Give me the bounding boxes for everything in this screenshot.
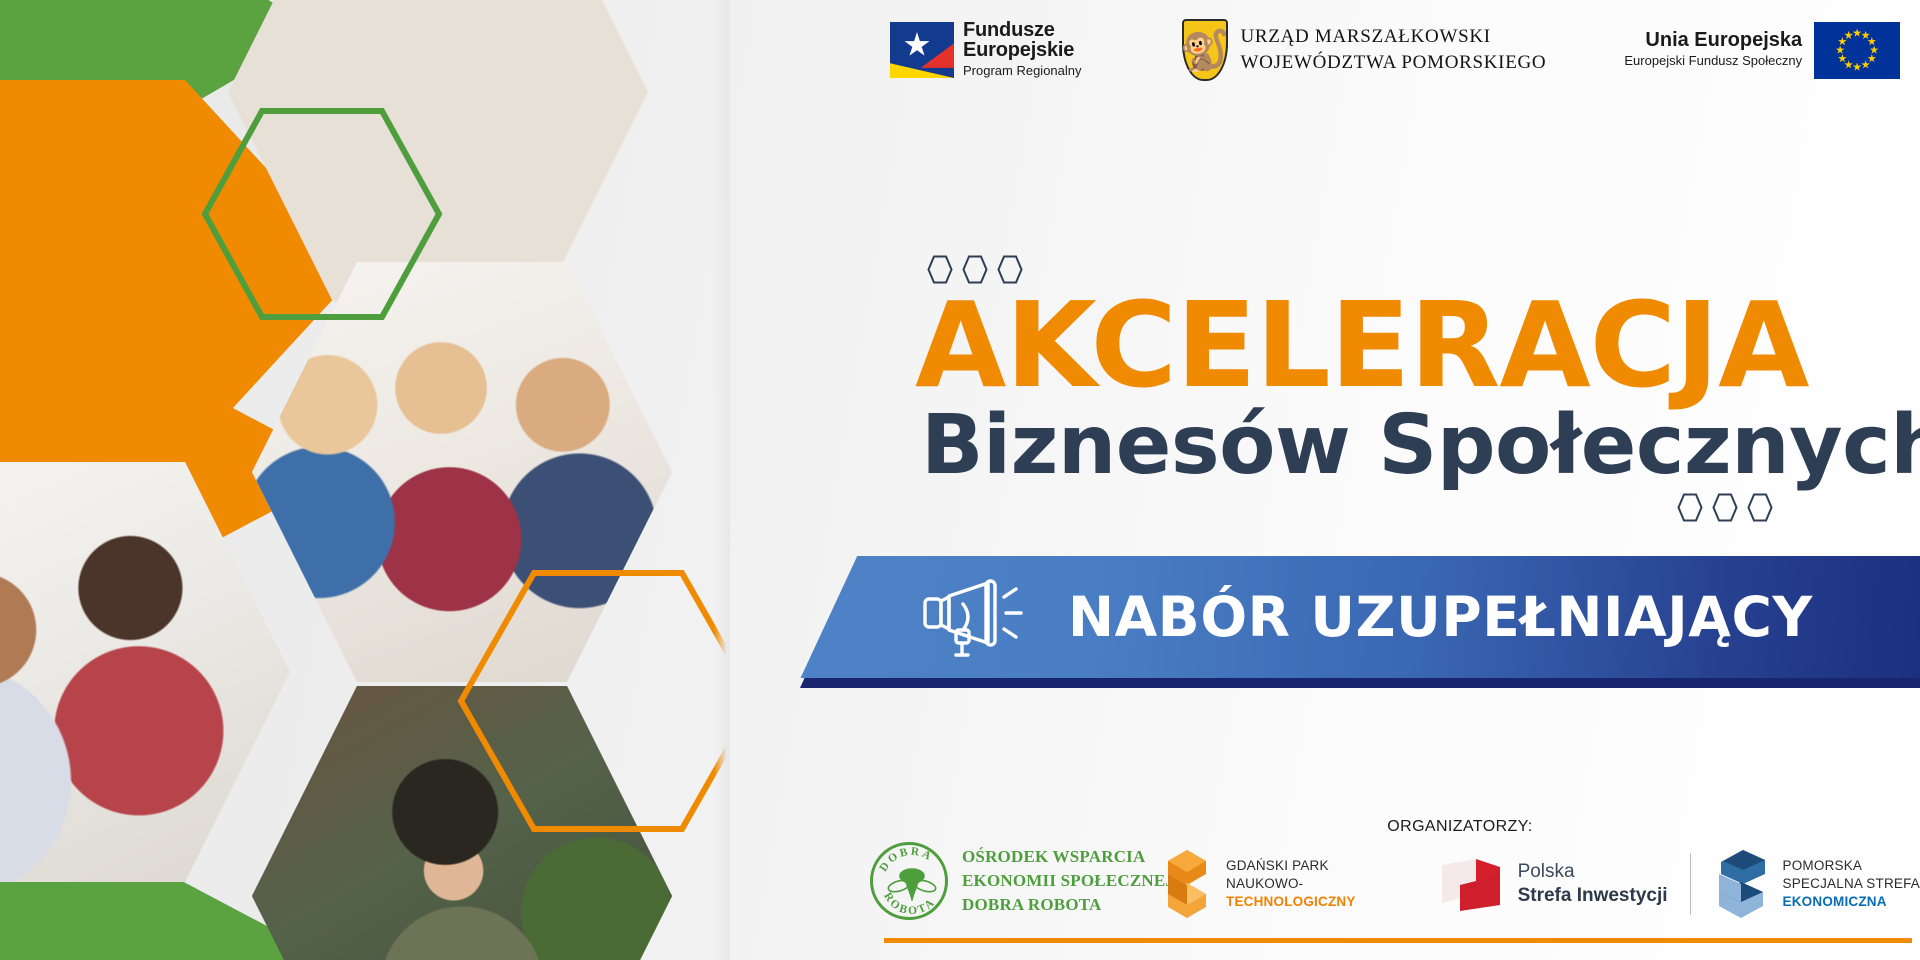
- logo-pomorska-specjalna-strefa: POMORSKA SPECJALNA STREFA EKONOMICZNA: [1713, 848, 1920, 920]
- psi-line2: Strefa Inwestycji: [1518, 884, 1668, 908]
- footer-logos: DOBRA ROBOTA OŚRODEK WSPARCIA EKONOMII S…: [870, 832, 1920, 932]
- psi-logo-icon: [1440, 855, 1502, 913]
- fundusze-line3: Program Regionalny: [963, 61, 1082, 81]
- eu-star-icon: [1861, 31, 1870, 40]
- logo-fundusze-europejskie: Fundusze Europejskie Program Regionalny: [890, 20, 1082, 80]
- logo-polska-strefa-inwestycji: Polska Strefa Inwestycji: [1440, 855, 1668, 913]
- unia-line1: Unia Europejska: [1624, 29, 1802, 51]
- psse-line3: EKONOMICZNA: [1783, 893, 1920, 911]
- logo-urzad-marszalkowski: 🐒 URZĄD MARSZAŁKOWSKI WOJEWÓDZTWA POMORS…: [1182, 19, 1547, 81]
- marszalkowski-line1: URZĄD MARSZAŁKOWSKI: [1241, 24, 1547, 50]
- eu-star-icon: [1838, 37, 1847, 46]
- hex-decor-bottom: [915, 493, 1773, 522]
- eu-star-icon: [1836, 46, 1845, 55]
- psi-line1: Polska: [1518, 860, 1668, 884]
- title-block: AKCELERACJA Biznesów Społecznych: [915, 255, 1825, 522]
- unia-line2: Europejski Fundusz Społeczny: [1624, 51, 1802, 71]
- owes-line2: EKONOMII SPOŁECZNEJ: [962, 869, 1174, 893]
- owes-line3: DOBRA ROBOTA: [962, 893, 1174, 917]
- eu-star-icon: [1867, 54, 1876, 63]
- marszalkowski-line2: WOJEWÓDZTWA POMORSKIEGO: [1241, 50, 1547, 76]
- eu-star-icon: [1861, 60, 1870, 69]
- eu-star-icon: [1867, 37, 1876, 46]
- megaphone-icon: [922, 577, 1030, 657]
- hex-decor-icon: [1677, 493, 1703, 522]
- eu-star-icon: [1838, 54, 1847, 63]
- eu-star-icon: [1853, 29, 1862, 38]
- hex-decor-icon: [1747, 493, 1773, 522]
- recruitment-banner: NABÓR UZUPEŁNIAJĄCY: [796, 556, 1920, 678]
- hex-orange-outline: [458, 570, 730, 832]
- logo-owes-dobra-robota: DOBRA ROBOTA OŚRODEK WSPARCIA EKONOMII S…: [870, 842, 1174, 920]
- photo-pair: [0, 462, 290, 882]
- hex-decor-icon: [1712, 493, 1738, 522]
- hex-green-outline: [202, 108, 442, 320]
- psse-line2: SPECJALNA STREFA: [1783, 875, 1920, 893]
- psse-line1: POMORSKA: [1783, 857, 1920, 875]
- owes-line1: OŚRODEK WSPARCIA: [962, 845, 1174, 869]
- page-title: AKCELERACJA: [915, 290, 1825, 401]
- funding-logo-strip: Fundusze Europejskie Program Regionalny …: [880, 6, 1910, 94]
- page-subtitle: Biznesów Społecznych: [921, 403, 1825, 489]
- fundusze-europejskie-flag-icon: [890, 22, 954, 78]
- gpnt-line1: GDAŃSKI PARK: [1226, 857, 1356, 875]
- pomorskie-griffin-crest-icon: 🐒: [1182, 19, 1228, 81]
- european-union-flag-icon: [1814, 22, 1900, 79]
- eu-star-icon: [1844, 31, 1853, 40]
- pssе-logo-icon: [1713, 848, 1771, 920]
- organizer-divider-2: [1690, 853, 1691, 915]
- dobra-robota-bee-icon: DOBRA ROBOTA: [870, 842, 948, 920]
- banner-label: NABÓR UZUPEŁNIAJĄCY: [1068, 585, 1813, 649]
- fundusze-line1: Fundusze: [963, 20, 1082, 40]
- bottom-accent-rule: [884, 938, 1912, 943]
- poster-canvas: Fundusze Europejskie Program Regionalny …: [0, 0, 1920, 960]
- logo-gdanski-park: GDAŃSKI PARK NAUKOWO- TECHNOLOGICZNY: [1160, 848, 1356, 920]
- gpnt-logo-icon: [1160, 848, 1214, 920]
- gpnt-line2: NAUKOWO-: [1226, 875, 1356, 893]
- organizers-label: ORGANIZATORZY:: [1250, 818, 1670, 836]
- organizers-logo-row: GDAŃSKI PARK NAUKOWO- TECHNOLOGICZNY Pol…: [1160, 848, 1920, 920]
- fundusze-line2: Europejskie: [963, 40, 1082, 60]
- eu-star-icon: [1853, 63, 1862, 72]
- eu-star-icon: [1844, 60, 1853, 69]
- eu-star-icon: [1870, 46, 1879, 55]
- gpnt-line3: TECHNOLOGICZNY: [1226, 893, 1356, 911]
- collage-seam-right: [714, 0, 730, 960]
- logo-unia-europejska: Unia Europejska Europejski Fundusz Społe…: [1624, 22, 1900, 79]
- hex-photo-collage: [0, 0, 730, 960]
